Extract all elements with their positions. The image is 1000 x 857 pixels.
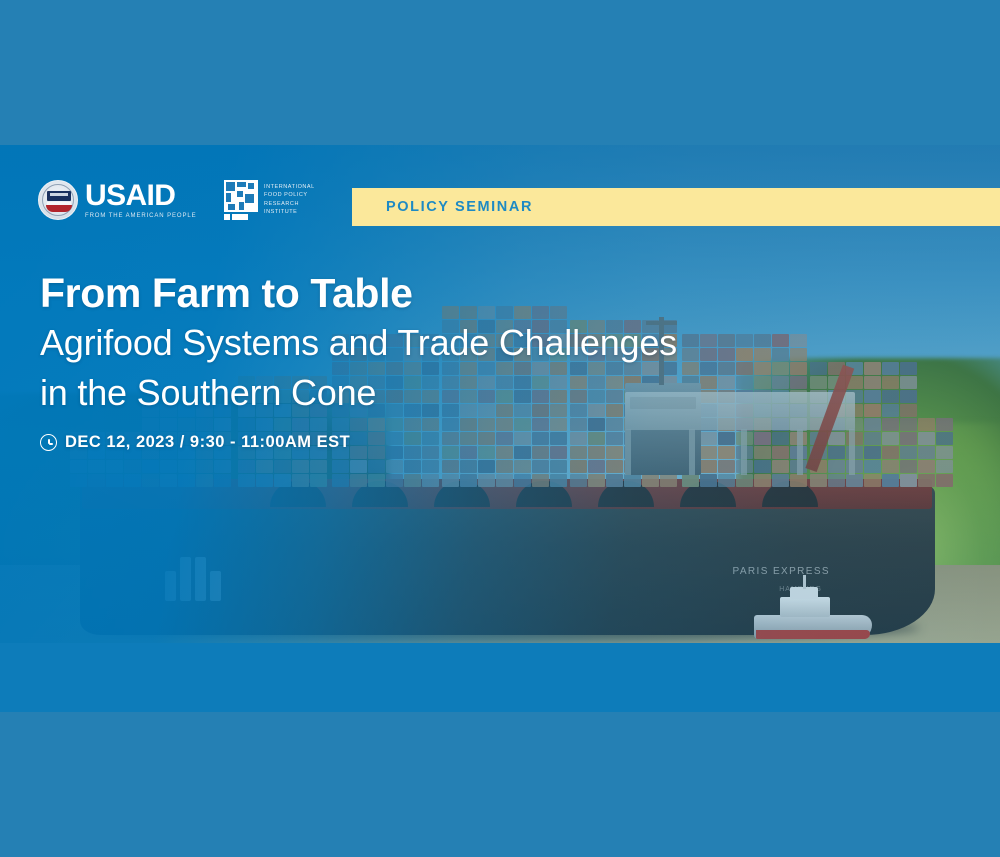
usaid-logo: USAID FROM THE AMERICAN PEOPLE: [38, 180, 197, 220]
ifpri-wordmark: INTERNATIONAL FOOD POLICY RESEARCH INSTI…: [264, 184, 315, 216]
usaid-tagline: FROM THE AMERICAN PEOPLE: [85, 213, 197, 219]
policy-seminar-label: POLICY SEMINAR: [386, 199, 533, 215]
event-title: From Farm to Table: [40, 272, 677, 315]
bottom-background-band: [0, 712, 1000, 857]
event-hero-copy: From Farm to Table Agrifood Systems and …: [40, 272, 677, 452]
usaid-wordmark: USAID: [85, 181, 197, 211]
ifpri-line-2: FOOD POLICY: [264, 192, 315, 199]
ifpri-mark-icon: [224, 180, 258, 220]
ifpri-line-1: INTERNATIONAL: [264, 184, 315, 191]
card-footer-strip: [0, 643, 1000, 712]
event-subtitle-line-2: in the Southern Cone: [40, 370, 677, 415]
policy-seminar-banner: POLICY SEMINAR: [352, 188, 1000, 226]
event-datetime-text: DEC 12, 2023 / 9:30 - 11:00AM EST: [65, 433, 350, 452]
ifpri-logo: INTERNATIONAL FOOD POLICY RESEARCH INSTI…: [224, 180, 315, 220]
promo-banner-screenshot: PARIS EXPRESS HAMBURG: [0, 0, 1000, 857]
event-datetime: DEC 12, 2023 / 9:30 - 11:00AM EST: [40, 433, 677, 452]
top-background-band: [0, 0, 1000, 145]
banner-header: USAID FROM THE AMERICAN PEOPLE: [0, 178, 1000, 230]
usaid-seal-icon: [38, 180, 78, 220]
event-subtitle-line-1: Agrifood Systems and Trade Challenges: [40, 320, 677, 365]
ifpri-line-4: INSTITUTE: [264, 209, 315, 216]
clock-icon: [40, 434, 57, 451]
event-banner-card: PARIS EXPRESS HAMBURG: [0, 145, 1000, 712]
ifpri-line-3: RESEARCH: [264, 201, 315, 208]
